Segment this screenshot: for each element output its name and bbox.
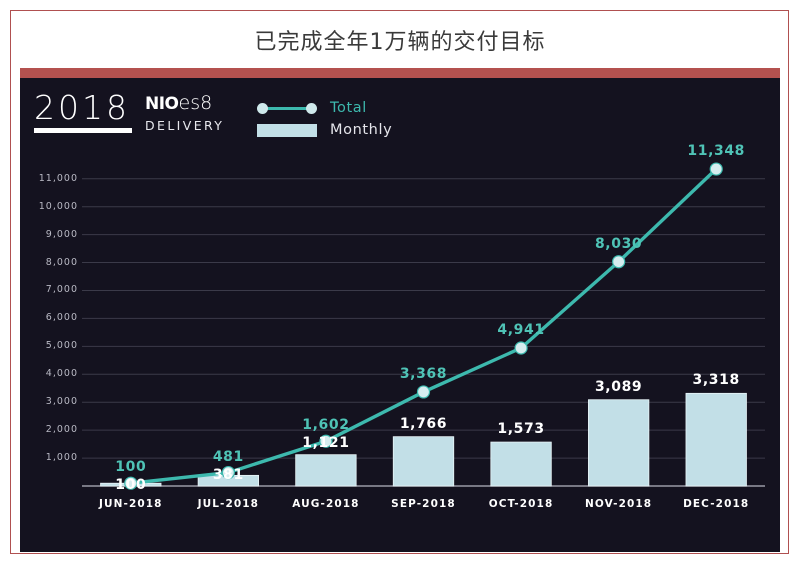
value-label-monthly: 100: [82, 477, 180, 493]
accent-stripe: [20, 68, 780, 78]
y-axis-tick-label: 6,000: [20, 312, 78, 323]
title-bar: 已完成全年1万辆的交付目标: [12, 12, 788, 67]
y-axis-tick-label: 9,000: [20, 229, 78, 240]
value-label-total: 1,602: [277, 417, 375, 433]
x-axis-tick-label: DEC-2018: [667, 498, 765, 510]
brand-name-line: NIOes8: [145, 94, 224, 114]
y-axis-tick-label: 7,000: [20, 284, 78, 295]
bar-monthly[interactable]: [296, 455, 356, 486]
x-axis-tick-label: NOV-2018: [570, 498, 668, 510]
year-label: 2018: [34, 91, 139, 125]
x-axis-tick-label: OCT-2018: [472, 498, 570, 510]
legend-label-monthly: Monthly: [330, 122, 392, 138]
chart-header: 2018 NIOes8 DELIVERY Total: [20, 78, 780, 148]
y-axis-tick-label: 10,000: [20, 201, 78, 212]
chart-legend: Total Monthly: [257, 97, 392, 141]
value-label-total: 4,941: [472, 322, 570, 338]
value-label-monthly: 1,121: [277, 435, 375, 451]
legend-item-monthly: Monthly: [257, 119, 392, 141]
y-axis-tick-label: 11,000: [20, 173, 78, 184]
x-axis-tick-label: AUG-2018: [277, 498, 375, 510]
value-label-total: 11,348: [667, 143, 765, 159]
bar-monthly[interactable]: [393, 437, 453, 486]
value-label-monthly: 3,318: [667, 372, 765, 388]
brand-subtitle: DELIVERY: [145, 118, 224, 133]
y-axis-tick-label: 3,000: [20, 396, 78, 407]
legend-line-marker-icon: [257, 100, 317, 116]
line-point-total[interactable]: [710, 163, 722, 175]
bar-monthly[interactable]: [491, 442, 551, 486]
y-axis-tick-label: 8,000: [20, 257, 78, 268]
y-axis-tick-label: 5,000: [20, 340, 78, 351]
year-underline: [34, 128, 132, 133]
line-point-total[interactable]: [515, 342, 527, 354]
y-axis-tick-label: 4,000: [20, 368, 78, 379]
y-axis-tick-label: 2,000: [20, 424, 78, 435]
chart-panel: 2018 NIOes8 DELIVERY Total: [20, 78, 780, 552]
year-block: 2018: [34, 91, 139, 133]
line-point-total[interactable]: [613, 256, 625, 268]
line-point-total[interactable]: [418, 386, 430, 398]
value-label-total: 3,368: [375, 366, 473, 382]
page-title: 已完成全年1万辆的交付目标: [255, 24, 546, 56]
value-label-monthly: 1,573: [472, 421, 570, 437]
slide-page: 已完成全年1万辆的交付目标 2018 NIOes8 DELIVERY: [0, 0, 800, 566]
y-axis-tick-label: 1,000: [20, 452, 78, 463]
brand-nio-text: NIO: [145, 94, 179, 114]
value-label-monthly: 1,766: [375, 416, 473, 432]
value-label-total: 100: [82, 459, 180, 475]
bar-monthly[interactable]: [588, 400, 648, 486]
brand-model-text: es8: [179, 92, 213, 114]
bar-monthly[interactable]: [686, 393, 746, 486]
x-axis-tick-label: JUN-2018: [82, 498, 180, 510]
value-label-total: 481: [180, 449, 278, 465]
value-label-monthly: 381: [180, 467, 278, 483]
x-axis-tick-label: SEP-2018: [375, 498, 473, 510]
legend-bar-marker-icon: [257, 122, 317, 138]
legend-item-total: Total: [257, 97, 392, 119]
value-label-total: 8,030: [570, 236, 668, 252]
legend-label-total: Total: [330, 100, 367, 116]
value-label-monthly: 3,089: [570, 379, 668, 395]
plot-area: 1,0002,0003,0004,0005,0006,0007,0008,000…: [20, 148, 780, 552]
x-axis-tick-label: JUL-2018: [180, 498, 278, 510]
brand-block: NIOes8 DELIVERY: [145, 94, 224, 133]
